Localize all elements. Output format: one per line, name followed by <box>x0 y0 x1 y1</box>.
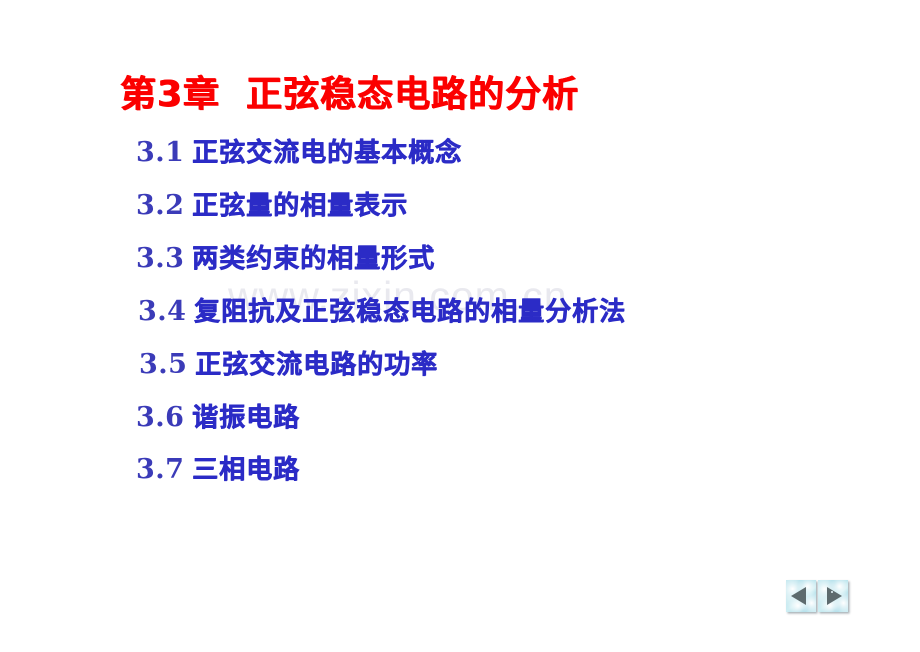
toc-item-label: 正弦量的相量表示 <box>192 191 408 221</box>
toc-item-label: 正弦交流电的基本概念 <box>192 138 462 168</box>
toc-item-number: 3.1 <box>136 133 192 173</box>
toc-item-number: 3.3 <box>136 239 192 279</box>
toc-item-3-5[interactable]: 3.5正弦交流电路的功率 <box>139 345 438 385</box>
next-slide-button[interactable] <box>818 580 848 612</box>
triangle-left-icon <box>791 587 806 605</box>
toc-item-number: 3.6 <box>136 398 192 438</box>
toc-item-label: 复阻抗及正弦稳态电路的相量分析法 <box>194 297 626 327</box>
toc-item-number: 3.5 <box>139 345 195 385</box>
toc-item-3-3[interactable]: 3.3两类约束的相量形式 <box>136 239 435 279</box>
title-chapter-number: 3 <box>157 74 183 115</box>
slide-navigation <box>785 580 851 614</box>
title-suffix: 章 <box>183 74 220 115</box>
title-main-text: 正弦稳态电路的分析 <box>246 74 579 115</box>
toc-item-3-2[interactable]: 3.2正弦量的相量表示 <box>136 186 408 226</box>
triangle-right-icon <box>827 587 842 605</box>
page-title: 第3章正弦稳态电路的分析 <box>120 69 680 121</box>
triangle-highlight-dot-icon <box>831 591 833 593</box>
toc-item-number: 3.4 <box>138 292 194 332</box>
slide-canvas: www.zixin.com.cn 第3章正弦稳态电路的分析 3.1正弦交流电的基… <box>0 0 920 652</box>
toc-item-number: 3.7 <box>136 450 192 490</box>
toc-item-label: 两类约束的相量形式 <box>192 244 435 274</box>
toc-item-3-1[interactable]: 3.1正弦交流电的基本概念 <box>136 133 462 173</box>
toc-item-number: 3.2 <box>136 186 192 226</box>
toc-item-3-7[interactable]: 3.7三相电路 <box>136 450 300 490</box>
toc-item-label: 三相电路 <box>192 455 300 485</box>
toc-item-3-6[interactable]: 3.6谐振电路 <box>136 398 300 438</box>
toc-item-label: 谐振电路 <box>192 403 300 433</box>
toc-item-label: 正弦交流电路的功率 <box>195 350 438 380</box>
previous-slide-button[interactable] <box>786 580 816 612</box>
toc-item-3-4[interactable]: 3.4复阻抗及正弦稳态电路的相量分析法 <box>138 292 626 332</box>
title-prefix: 第 <box>120 74 157 115</box>
